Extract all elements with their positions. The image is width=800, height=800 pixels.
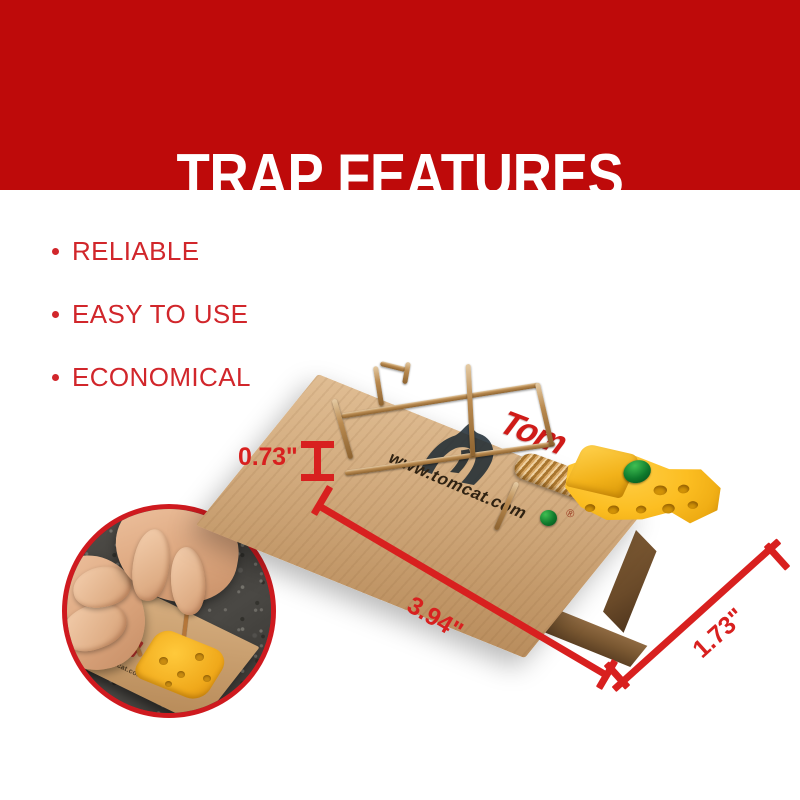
inset-cheese-hole: [159, 657, 168, 665]
bullet-icon: [52, 374, 59, 381]
page-title-line-1: TRAP FEATURES: [48, 148, 752, 205]
inset-cheese-hole: [177, 671, 185, 678]
green-bead-lower: [540, 510, 557, 526]
feature-label: EASY TO USE: [72, 299, 248, 330]
header-banner: TRAP FEATURES & DIMENSIONS: [0, 0, 800, 190]
bullet-icon: [52, 248, 59, 255]
inset-cheese-hole: [165, 681, 172, 687]
feature-label: RELIABLE: [72, 236, 200, 267]
infographic-page: TRAP FEATURES & DIMENSIONS RELIABLE EASY…: [0, 0, 800, 800]
height-dimension-cap-bottom: [301, 474, 334, 481]
inset-cheese-hole: [203, 675, 211, 682]
inset-cheese-hole: [195, 653, 204, 661]
feature-item-reliable: RELIABLE: [52, 236, 382, 266]
trigger-wire-hook: [402, 362, 411, 385]
feature-item-easy-to-use: EASY TO USE: [52, 299, 382, 329]
dimension-label-height: 0.73": [238, 443, 298, 472]
feature-label: ECONOMICAL: [72, 362, 251, 393]
bullet-icon: [52, 311, 59, 318]
trigger-wire-loop: [380, 361, 406, 372]
